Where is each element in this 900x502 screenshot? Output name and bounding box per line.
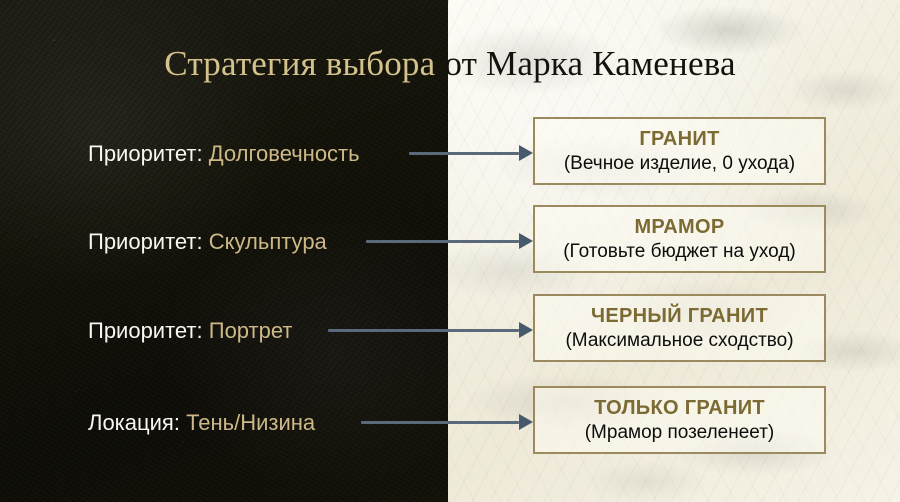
row-label-key-3: Приоритет: xyxy=(88,318,203,343)
arrow-4 xyxy=(361,413,533,431)
page-title-left: Стратегия выбора xyxy=(164,44,444,83)
result-box-1[interactable]: ГРАНИТ (Вечное изделие, 0 ухода) xyxy=(533,117,826,185)
row-label-4: Локация: Тень/Низина xyxy=(88,410,315,436)
slide-root: Стратегия выбора от Марка Каменева Приор… xyxy=(0,0,900,502)
row-label-value-3: Портрет xyxy=(209,318,293,343)
page-title: Стратегия выбора от Марка Каменева xyxy=(0,42,900,86)
row-label-value-2: Скульптура xyxy=(209,229,327,254)
result-title-3: ЧЕРНЫЙ ГРАНИТ xyxy=(535,304,824,328)
arrow-shaft-1 xyxy=(409,152,519,155)
result-title-2: МРАМОР xyxy=(535,215,824,239)
result-box-2[interactable]: МРАМОР (Готовьте бюджет на уход) xyxy=(533,205,826,273)
arrow-shaft-2 xyxy=(366,240,519,243)
row-label-value-4: Тень/Низина xyxy=(186,410,315,435)
row-label-2: Приоритет: Скульптура xyxy=(88,229,327,255)
result-sub-4: (Мрамор позеленеет) xyxy=(535,420,824,445)
result-title-1: ГРАНИТ xyxy=(535,127,824,151)
result-sub-1: (Вечное изделие, 0 ухода) xyxy=(535,151,824,176)
page-title-right: от Марка Каменева xyxy=(444,44,735,83)
row-label-value-1: Долговечность xyxy=(209,141,360,166)
result-sub-2: (Готовьте бюджет на уход) xyxy=(535,239,824,264)
row-label-key-4: Локация: xyxy=(88,410,180,435)
arrow-head-4 xyxy=(519,414,533,430)
row-label-key-2: Приоритет: xyxy=(88,229,203,254)
result-box-4[interactable]: ТОЛЬКО ГРАНИТ (Мрамор позеленеет) xyxy=(533,386,826,454)
result-sub-3: (Максимальное сходство) xyxy=(535,328,824,353)
result-title-4: ТОЛЬКО ГРАНИТ xyxy=(535,396,824,420)
arrow-2 xyxy=(366,232,533,250)
arrow-3 xyxy=(328,321,533,339)
row-label-3: Приоритет: Портрет xyxy=(88,318,292,344)
arrow-shaft-4 xyxy=(361,421,519,424)
arrow-head-3 xyxy=(519,322,533,338)
result-box-3[interactable]: ЧЕРНЫЙ ГРАНИТ (Максимальное сходство) xyxy=(533,294,826,362)
row-label-1: Приоритет: Долговечность xyxy=(88,141,360,167)
arrow-1 xyxy=(409,144,533,162)
row-label-key-1: Приоритет: xyxy=(88,141,203,166)
arrow-shaft-3 xyxy=(328,329,519,332)
arrow-head-2 xyxy=(519,233,533,249)
arrow-head-1 xyxy=(519,145,533,161)
